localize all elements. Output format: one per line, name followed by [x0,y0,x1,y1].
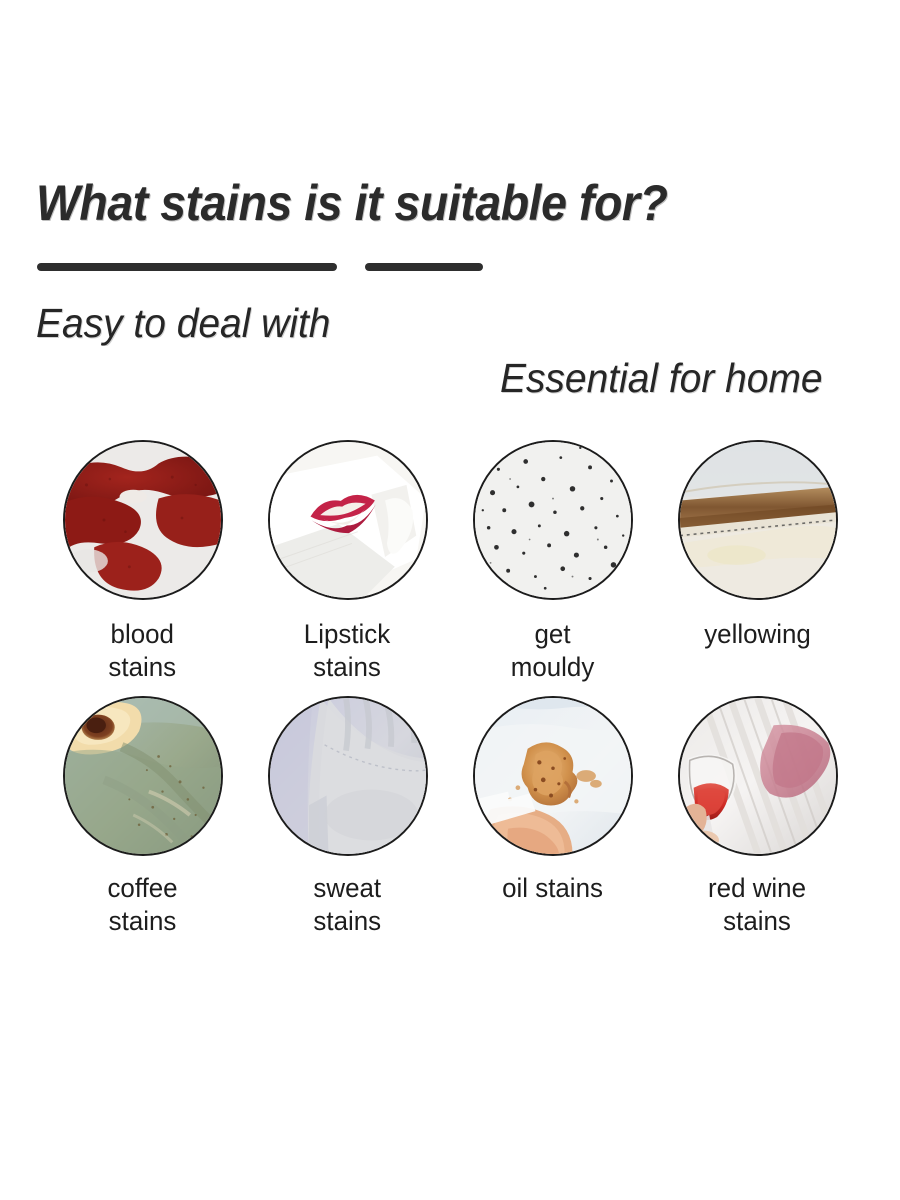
stain-label-lipstick-stains: Lipstick stains [304,618,390,684]
stain-grid: blood stains Lipstick stai [40,440,860,938]
stain-card-get-mouldy: get mouldy [450,440,655,684]
coffee-spill-photo [63,696,223,856]
stain-card-yellowing: yellowing [655,440,860,684]
stain-card-oil-stains: oil stains [450,696,655,938]
stain-card-blood-stains: blood stains [40,440,245,684]
subtitle-easy-to-deal-with: Easy to deal with [36,303,330,344]
stain-card-lipstick-stains: Lipstick stains [245,440,450,684]
stain-label-blood-stains: blood stains [109,618,177,684]
sweat-underarm-photo [268,696,428,856]
page-title: What stains is it suitable for? [36,178,667,228]
mould-spots-photo [473,440,633,600]
stain-label-yellowing: yellowing [704,618,811,651]
stain-card-sweat-stains: sweat stains [245,696,450,938]
lipstick-stain-photo [268,440,428,600]
stain-card-coffee-stains: coffee stains [40,696,245,938]
yellowing-collar-photo [678,440,838,600]
stain-label-oil-stains: oil stains [502,872,603,905]
stain-label-get-mouldy: get mouldy [511,618,595,684]
stain-label-coffee-stains: coffee stains [107,872,177,938]
red-wine-spill-photo [678,696,838,856]
stain-card-red-wine-stains: red wine stains [655,696,860,938]
stain-label-red-wine-stains: red wine stains [709,872,807,938]
stain-label-sweat-stains: sweat stains [314,872,382,938]
divider-bar-short [365,263,483,271]
subtitle-essential-for-home: Essential for home [500,358,823,399]
oil-food-stain-photo [473,696,633,856]
divider-bar-long [37,263,337,271]
blood-stain-photo [63,440,223,600]
title-divider [37,263,497,273]
